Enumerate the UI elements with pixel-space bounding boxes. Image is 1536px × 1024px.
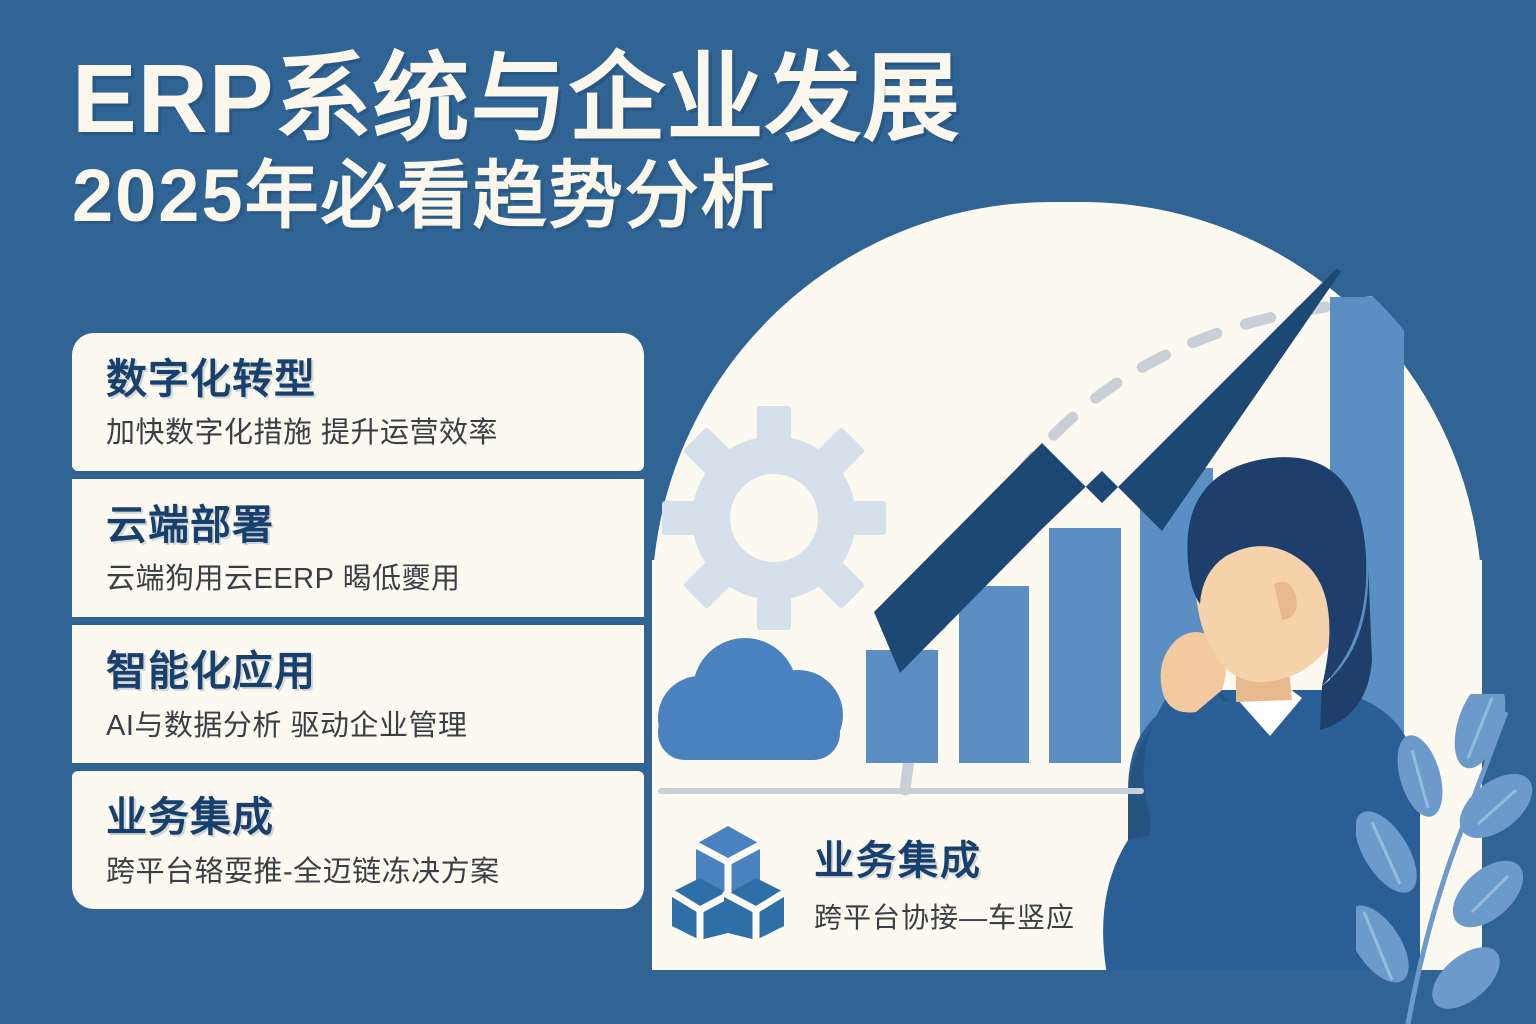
trend-card-desc: 加快数字化措施 提升运营效率 (106, 415, 610, 453)
trend-card-title: 数字化转型 (106, 355, 610, 403)
trend-card-desc: 云端狗用云EERP 暍低夒用 (106, 561, 610, 599)
trend-card-title: 智能化应用 (106, 647, 610, 695)
trend-card-1[interactable]: 数字化转型 加快数字化措施 提升运营效率 (72, 333, 644, 471)
business-integration-text: 业务集成 跨平台协接—车竖应 (814, 828, 1075, 936)
trend-card-desc: AI与数据分析 驱动企业管理 (106, 708, 610, 746)
trend-card-3[interactable]: 智能化应用 AI与数据分析 驱动企业管理 (72, 625, 644, 763)
business-integration-block: 业务集成 跨平台协接—车竖应 (672, 812, 1192, 952)
page-title: ERP系统与企业发展 (72, 48, 1252, 151)
infographic-canvas: ERP系统与企业发展 2025年必看趋势分析 (0, 0, 1536, 1024)
trend-card-title: 业务集成 (106, 793, 610, 841)
trend-card-2[interactable]: 云端部署 云端狗用云EERP 暍低夒用 (72, 479, 644, 617)
business-integration-title: 业务集成 (814, 828, 1075, 886)
cubes-icon (672, 822, 784, 942)
trend-card-4[interactable]: 业务集成 跨平台辂耍推-全迈链冻决方案 (72, 771, 644, 909)
trend-card-title: 云端部署 (106, 501, 610, 549)
business-integration-desc: 跨平台协接—车竖应 (814, 896, 1075, 936)
trend-card-desc: 跨平台辂耍推-全迈链冻决方案 (106, 854, 610, 892)
trend-card-list: 数字化转型 加快数字化措施 提升运营效率 云端部署 云端狗用云EERP 暍低夒用… (72, 333, 644, 909)
section-divider (658, 788, 1144, 794)
